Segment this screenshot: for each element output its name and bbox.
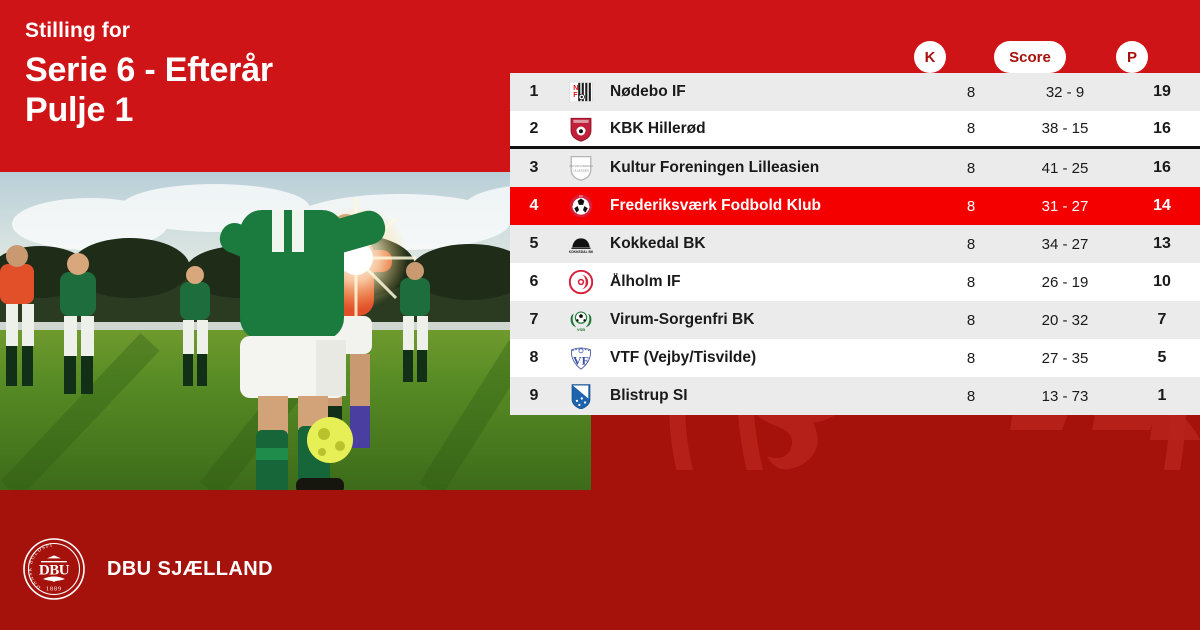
title-kicker: Stilling for (25, 18, 495, 44)
page-title: Stilling for Serie 6 - Efterår Pulje 1 (25, 18, 495, 130)
row-team-name: Ålholm IF (604, 273, 936, 291)
row-goal-score: 20 - 32 (1006, 312, 1124, 329)
table-row[interactable]: 2KBK Hillerød838 - 1516 (510, 111, 1200, 149)
table-row[interactable]: 8VTF (Vejby/Tisvilde)827 - 355 (510, 339, 1200, 377)
row-team-name: Blistrup SI (604, 387, 936, 405)
dbu-seal-logo: DANSK BOLDSPIL UNION DBU 1889 (23, 538, 85, 600)
frederiksvaerk-logo (558, 193, 604, 219)
row-matches-played: 8 (936, 388, 1006, 405)
row-team-name: Virum-Sorgenfri BK (604, 311, 936, 329)
row-goal-score: 41 - 25 (1006, 160, 1124, 177)
row-team-name: Kokkedal BK (604, 235, 936, 253)
row-team-name: KBK Hillerød (604, 120, 936, 138)
row-rank: 3 (510, 159, 558, 177)
row-points: 1 (1124, 387, 1200, 405)
row-points: 5 (1124, 349, 1200, 367)
row-matches-played: 8 (936, 274, 1006, 291)
row-rank: 5 (510, 235, 558, 253)
row-matches-played: 8 (936, 160, 1006, 177)
row-team-name: Nødebo IF (604, 83, 936, 101)
row-team-name: Kultur Foreningen Lilleasien (604, 159, 936, 177)
title-line-2: Pulje 1 (25, 90, 495, 130)
row-rank: 8 (510, 349, 558, 367)
row-matches-played: 8 (936, 236, 1006, 253)
row-points: 14 (1124, 197, 1200, 215)
row-rank: 7 (510, 311, 558, 329)
kbk-hillerod-logo (558, 116, 604, 142)
row-team-name: Frederiksværk Fodbold Klub (604, 197, 936, 215)
column-header-points: P (1116, 41, 1148, 73)
title-line-1: Serie 6 - Efterår (25, 50, 495, 90)
table-row[interactable]: 3Kultur Foreningen Lilleasien841 - 2516 (510, 149, 1200, 187)
row-points: 16 (1124, 159, 1200, 177)
row-goal-score: 26 - 19 (1006, 274, 1124, 291)
standings-table: 1Nødebo IF832 - 9192KBK Hillerød838 - 15… (510, 73, 1200, 415)
kokkedal-bk-logo (558, 231, 604, 257)
column-header-score: Score (994, 41, 1066, 73)
table-row[interactable]: 9Blistrup SI813 - 731 (510, 377, 1200, 415)
blistrup-si-logo (558, 383, 604, 409)
column-header-matches: K (914, 41, 946, 73)
row-points: 10 (1124, 273, 1200, 291)
table-row[interactable]: 5Kokkedal BK834 - 2713 (510, 225, 1200, 263)
row-matches-played: 8 (936, 350, 1006, 367)
row-goal-score: 38 - 15 (1006, 120, 1124, 137)
row-rank: 4 (510, 197, 558, 215)
footer: DANSK BOLDSPIL UNION DBU 1889 DBU SJÆLLA… (0, 508, 1200, 630)
svg-text:DBU: DBU (39, 563, 70, 579)
row-matches-played: 8 (936, 84, 1006, 101)
row-goal-score: 13 - 73 (1006, 388, 1124, 405)
nodebo-if-logo (558, 79, 604, 105)
row-rank: 2 (510, 120, 558, 138)
standings-graphic: Stilling for Serie 6 - Efterår Pulje 1 (0, 0, 1200, 630)
column-headers: K Score P (510, 41, 1200, 73)
row-team-name: VTF (Vejby/Tisvilde) (604, 349, 936, 367)
alholm-if-logo (558, 269, 604, 295)
row-matches-played: 8 (936, 120, 1006, 137)
virum-sorgenfri-bk-logo (558, 307, 604, 333)
row-points: 7 (1124, 311, 1200, 329)
row-goal-score: 34 - 27 (1006, 236, 1124, 253)
row-goal-score: 32 - 9 (1006, 84, 1124, 101)
row-rank: 1 (510, 83, 558, 101)
row-goal-score: 27 - 35 (1006, 350, 1124, 367)
row-matches-played: 8 (936, 198, 1006, 215)
football-match-photo (0, 172, 591, 490)
table-row[interactable]: 4Frederiksværk Fodbold Klub831 - 2714 (510, 187, 1200, 225)
row-rank: 9 (510, 387, 558, 405)
row-points: 13 (1124, 235, 1200, 253)
row-points: 16 (1124, 120, 1200, 138)
kultur-lilleasien-logo (558, 155, 604, 181)
row-goal-score: 31 - 27 (1006, 198, 1124, 215)
footer-organisation: DBU SJÆLLAND (107, 558, 273, 581)
row-rank: 6 (510, 273, 558, 291)
table-row[interactable]: 6Ålholm IF826 - 1910 (510, 263, 1200, 301)
svg-text:1889: 1889 (46, 587, 62, 593)
vtf-logo (558, 345, 604, 371)
row-points: 19 (1124, 83, 1200, 101)
table-row[interactable]: 1Nødebo IF832 - 919 (510, 73, 1200, 111)
row-matches-played: 8 (936, 312, 1006, 329)
table-row[interactable]: 7Virum-Sorgenfri BK820 - 327 (510, 301, 1200, 339)
